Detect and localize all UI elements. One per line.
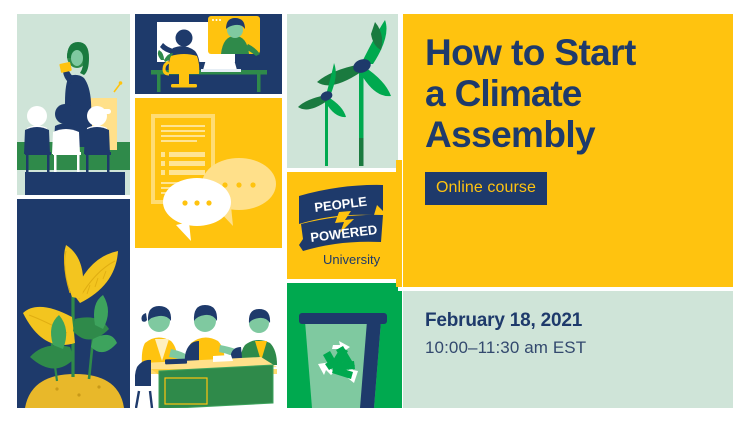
document-speech-illustration bbox=[135, 98, 282, 248]
status-badge: Online course bbox=[425, 172, 547, 205]
event-date: February 18, 2021 bbox=[425, 309, 733, 333]
video-call-illustration bbox=[135, 14, 282, 94]
plant-graphic bbox=[17, 199, 130, 408]
video-call-graphic bbox=[135, 14, 282, 94]
title-text-wrap: How to Start a Climate Assembly bbox=[403, 14, 733, 155]
date-block: February 18, 2021 10:00–11:30 am EST bbox=[403, 291, 733, 408]
logo-subtitle: University bbox=[323, 252, 381, 267]
meeting-table-graphic bbox=[135, 283, 282, 408]
title-line-1: How to Start bbox=[425, 32, 713, 73]
title-line-3: Assembly bbox=[425, 114, 713, 155]
wind-turbine-illustration bbox=[287, 14, 398, 168]
recycling-bin-illustration bbox=[287, 283, 398, 408]
poster-canvas: PEOPLE POWERED University bbox=[0, 0, 750, 422]
title-block: How to Start a Climate Assembly Online c… bbox=[403, 14, 733, 287]
plant-illustration bbox=[17, 199, 130, 408]
classroom-graphic bbox=[17, 14, 130, 195]
recycling-bin-graphic bbox=[287, 283, 398, 408]
wind-turbine-graphic bbox=[287, 14, 398, 168]
date-text-wrap: February 18, 2021 10:00–11:30 am EST bbox=[403, 291, 733, 360]
title-line-2-strong: Climate bbox=[455, 73, 582, 114]
logo-panel: PEOPLE POWERED University bbox=[287, 172, 398, 279]
event-time: 10:00–11:30 am EST bbox=[425, 336, 733, 360]
title-line-2-light: a bbox=[425, 73, 455, 114]
people-powered-university-logo: PEOPLE POWERED University bbox=[287, 172, 398, 279]
classroom-illustration bbox=[17, 14, 130, 195]
yellow-accent-sliver bbox=[396, 160, 402, 287]
title-line-2: a Climate bbox=[425, 73, 713, 114]
document-speech-graphic bbox=[135, 98, 282, 248]
meeting-table-illustration bbox=[135, 283, 282, 408]
green-accent-sliver bbox=[396, 291, 402, 408]
